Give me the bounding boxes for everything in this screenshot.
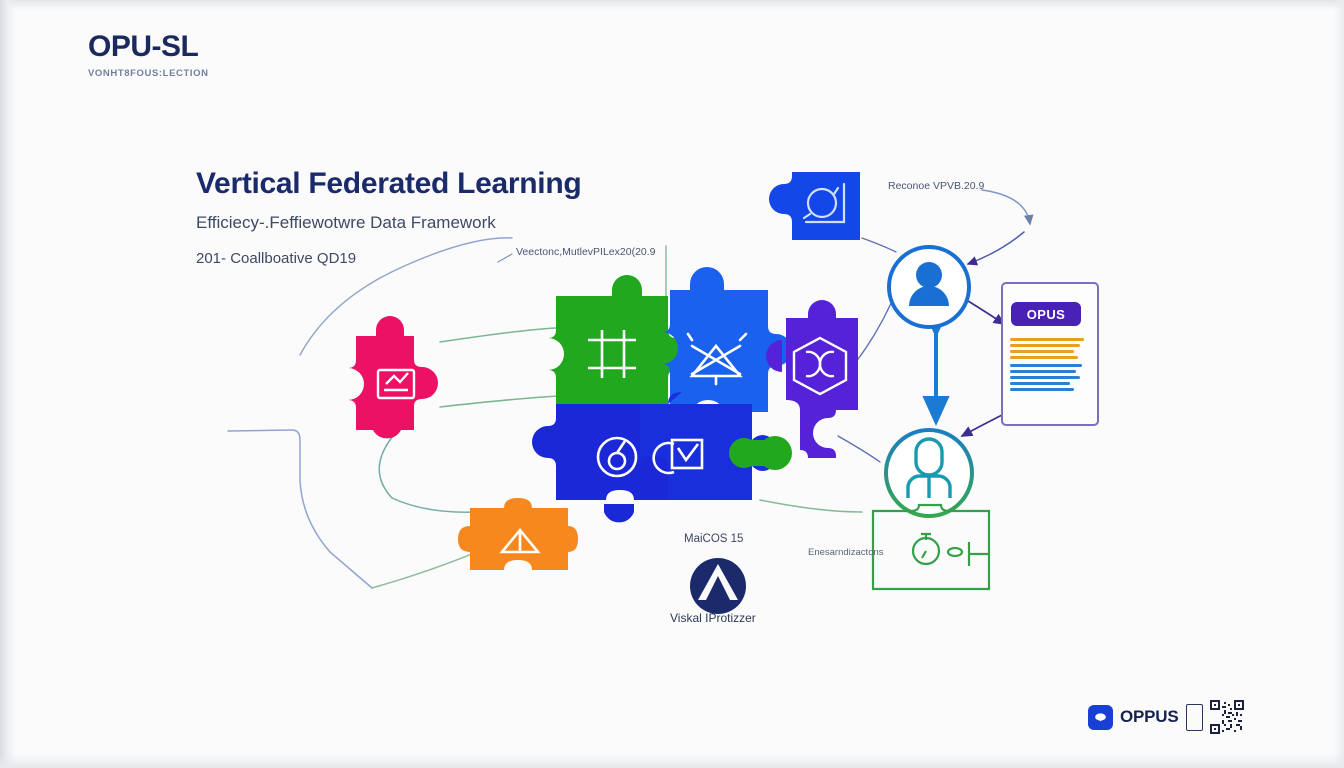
opus-blue-bars <box>1010 364 1084 394</box>
qr-code-icon <box>1210 700 1244 734</box>
node-user-bottom[interactable] <box>886 430 972 516</box>
puzzle-piece-purple[interactable] <box>766 300 858 458</box>
scan-edge-left <box>0 0 16 768</box>
scan-edge-top <box>0 0 1344 10</box>
puzzle-piece-orange[interactable] <box>458 498 578 570</box>
footer-pill-icon <box>1186 704 1203 731</box>
viskal-mark <box>690 558 746 614</box>
brand-tagline: VONHT8FOUS:LECTION <box>88 68 209 79</box>
diagram-canvas: OPU-SL VONHT8FOUS:LECTION Vertical Feder… <box>0 0 1344 768</box>
page-subtitle: Efficiecy-.Feffiewotwre Data Framework <box>196 213 581 233</box>
footer-logo: OPPUS <box>1088 700 1244 734</box>
label-vectors: Veectonc,MutlevPILex20(20.9 <box>516 246 656 258</box>
footer-logo-name: OPPUS <box>1120 707 1179 727</box>
opus-orange-bars <box>1010 338 1084 362</box>
label-reconoe: Reconoe VPVB.20.9 <box>888 180 984 192</box>
page-title: Vertical Federated Learning <box>196 168 581 200</box>
brand-name: OPU-SL <box>88 32 209 62</box>
scan-edge-right <box>1334 0 1344 768</box>
brand-logo: OPU-SL VONHT8FOUS:LECTION <box>88 32 209 79</box>
puzzle-piece-lightblue[interactable] <box>662 267 792 412</box>
stopwatch-icon <box>913 534 989 566</box>
oppus-mark-icon <box>1088 705 1113 730</box>
shape-layer <box>0 0 1344 768</box>
scan-edge-bottom <box>0 754 1344 768</box>
node-user-top[interactable] <box>889 247 969 327</box>
puzzle-piece-topblue[interactable] <box>769 172 860 240</box>
label-viskal: Viskal IProtizzer <box>670 611 756 625</box>
puzzle-piece-pink[interactable] <box>348 316 438 438</box>
opus-badge[interactable]: OPUS <box>1011 302 1081 326</box>
label-enesarndizactons: Enesarndizactons <box>808 547 884 558</box>
label-maicos: MaiCOS 15 <box>684 533 743 545</box>
